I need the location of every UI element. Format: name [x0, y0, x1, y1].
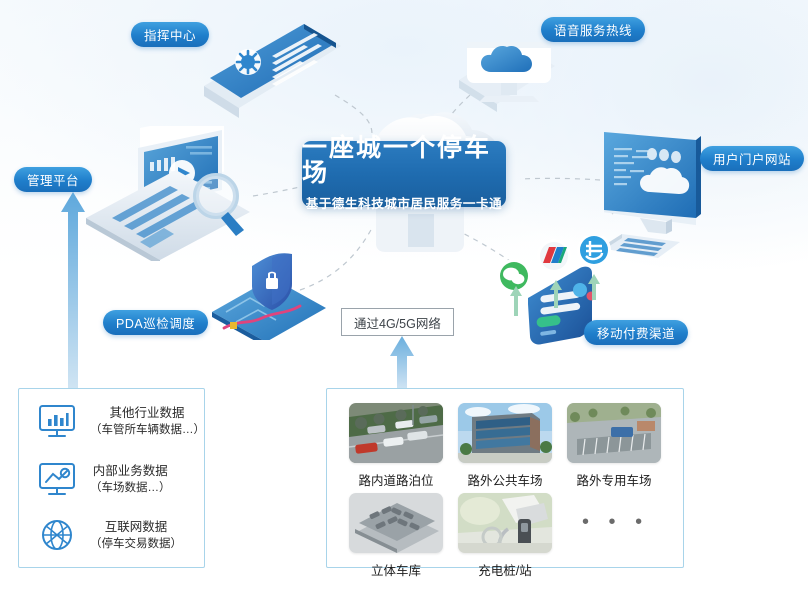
public-parking-building-thumb — [458, 403, 552, 463]
label-network[interactable]: 通过4G/5G网络 — [341, 308, 454, 336]
ev-charging-station-thumb — [458, 493, 552, 553]
parking-type-item[interactable]: 路外专用车场 — [567, 403, 661, 489]
management-platform-laptop-icon — [78, 126, 258, 261]
monitor-chart-icon — [37, 403, 77, 439]
data-source-detail: （车场数据…） — [90, 480, 171, 497]
headline-banner: 一座城一个停车场 基于德生科技城市居民服务一卡通 — [302, 141, 506, 207]
parking-type-caption: 立体车库 — [349, 560, 443, 579]
monitor-analytics-icon — [37, 461, 77, 497]
arrow-data-to-platform — [60, 192, 86, 388]
app-flow-arrows — [500, 272, 610, 320]
headline-subtitle: 基于德生科技城市居民服务一卡通 — [306, 193, 503, 212]
parking-type-caption: 充电桩/站 — [458, 560, 552, 579]
data-source-item[interactable]: 互联网数据 （停车交易数据） — [37, 517, 182, 553]
label-command-center[interactable]: 指挥中心 — [131, 22, 209, 47]
parking-type-caption: 路外公共车场 — [458, 470, 552, 489]
parking-type-item[interactable]: 立体车库 — [349, 493, 443, 579]
label-management-platform[interactable]: 管理平台 — [14, 167, 92, 192]
data-source-title: 内部业务数据 — [93, 462, 168, 480]
multi-level-garage-thumb — [349, 493, 443, 553]
data-source-detail: （车管所车辆数据…） — [90, 422, 204, 439]
pda-inspection-shield-icon — [206, 250, 331, 340]
parking-type-caption: 路外专用车场 — [567, 470, 661, 489]
infographic-canvas: 一座城一个停车场 基于德生科技城市居民服务一卡通 — [0, 0, 808, 590]
globe-network-icon — [37, 517, 77, 553]
label-voice-hotline[interactable]: 语音服务热线 — [541, 17, 645, 42]
more-parking-types: • • • — [582, 511, 649, 534]
arrow-parking-to-network — [389, 336, 415, 392]
data-source-item[interactable]: 内部业务数据 （车场数据…） — [37, 461, 171, 497]
data-sources-panel: 其他行业数据 （车管所车辆数据…） 内部业务数据 （车场数据…） — [18, 388, 205, 568]
label-user-portal[interactable]: 用户门户网站 — [700, 146, 804, 171]
parking-type-item[interactable]: 路内道路泊位 — [349, 403, 443, 489]
data-source-item[interactable]: 其他行业数据 （车管所车辆数据…） — [37, 403, 204, 439]
alipay-icon — [577, 236, 611, 267]
data-source-detail: （停车交易数据） — [90, 536, 182, 553]
label-mobile-payment[interactable]: 移动付费渠道 — [584, 320, 688, 345]
street-side-parking-thumb — [349, 403, 443, 463]
unionpay-icon — [537, 239, 571, 273]
parking-type-caption: 路内道路泊位 — [349, 470, 443, 489]
data-source-title: 其他行业数据 — [109, 404, 184, 422]
parking-type-item[interactable]: 路外公共车场 — [458, 403, 552, 489]
data-source-title: 互联网数据 — [105, 518, 168, 536]
parking-type-item[interactable]: 充电桩/站 — [458, 493, 552, 579]
parking-types-panel: 路内道路泊位 — [326, 388, 684, 568]
dedicated-parking-lot-thumb — [567, 403, 661, 463]
label-pda-inspection[interactable]: PDA巡检调度 — [103, 310, 208, 335]
